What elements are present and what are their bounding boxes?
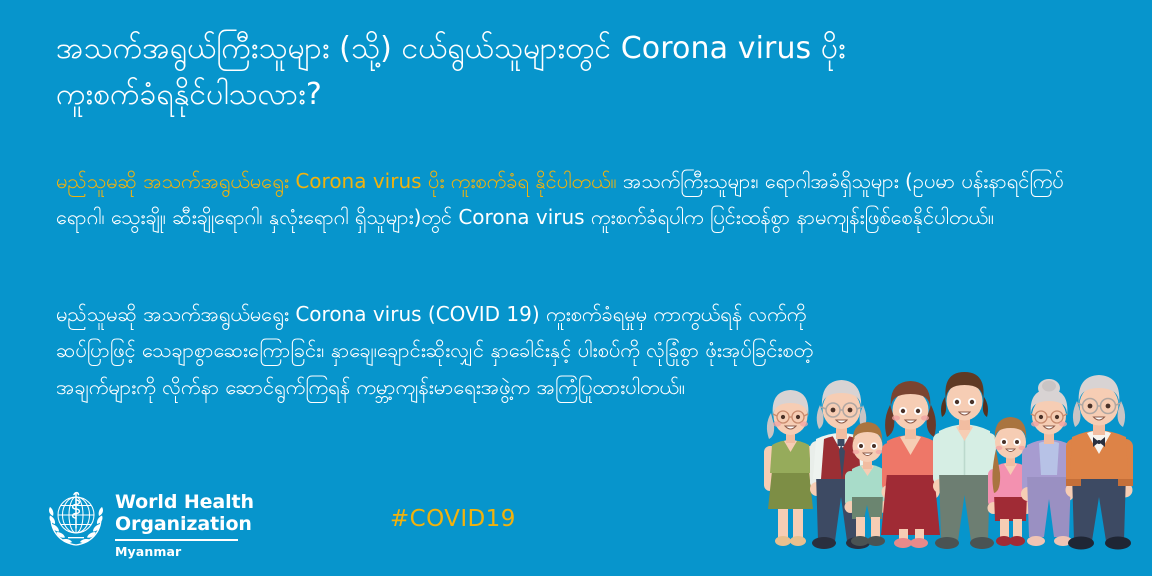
person-grandmother-left (764, 390, 817, 546)
who-wordmark: World Health Organization Myanmar (115, 489, 254, 559)
who-wordmark-line-2: Organization (115, 513, 254, 535)
body-paragraph-2: မည်သူမဆို အသက်အရွယ်မရွေး Corona virus (C… (56, 296, 856, 405)
headline-line-1: အသက်အရွယ်ကြီးသူများ (သို့) ငယ်ရွယ်သူများ… (56, 26, 1096, 72)
headline-line-2: ကူးစက်ခံရနိုင်ပါသလား? (56, 72, 1096, 118)
person-mother (881, 381, 940, 548)
paragraph-1-lead: မည်သူမဆို အသက်အရွယ်မရွေး Corona virus ပိ… (56, 169, 617, 193)
person-grandfather-right (1066, 375, 1134, 550)
who-emblem-icon (46, 489, 106, 549)
page-title: အသက်အရွယ်ကြီးသူများ (သို့) ငယ်ရွယ်သူများ… (56, 26, 1096, 117)
who-country-label: Myanmar (115, 544, 254, 559)
family-group-illustration (760, 361, 1152, 576)
hashtag-label: #COVID19 (390, 506, 516, 532)
person-father (933, 372, 996, 549)
body-paragraph-1: မည်သူမဆို အသက်အရွယ်မရွေး Corona virus ပိ… (56, 163, 1090, 236)
who-wordmark-line-1: World Health (115, 491, 254, 513)
who-logo: World Health Organization Myanmar (46, 489, 254, 559)
poster-canvas: အသက်အရွယ်ကြီးသူများ (သို့) ငယ်ရွယ်သူများ… (0, 0, 1152, 576)
who-divider (115, 539, 238, 541)
